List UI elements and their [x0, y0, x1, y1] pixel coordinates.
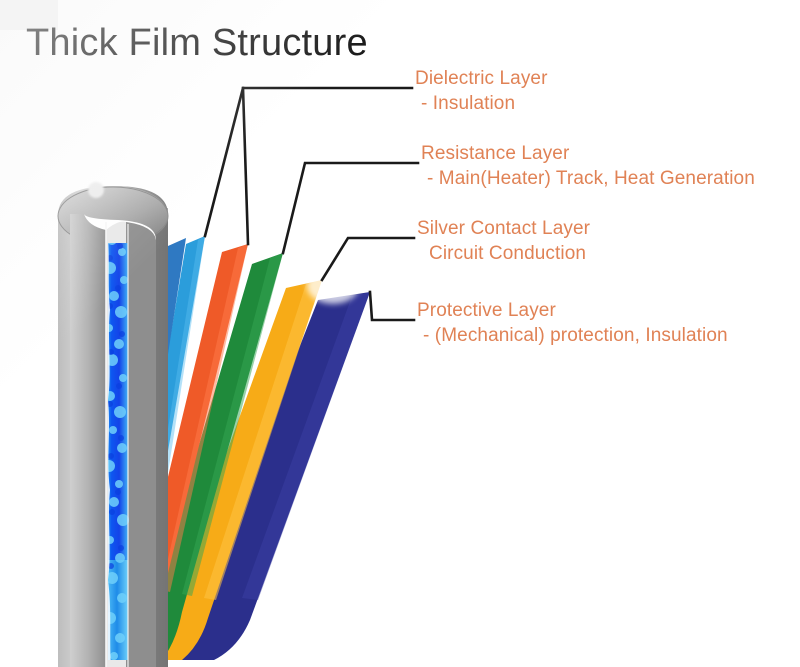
leader-dielectric-branch — [243, 88, 248, 244]
callout-silver-subtitle: Circuit Conduction — [417, 241, 590, 266]
callout-resistance-subtitle: - Main(Heater) Track, Heat Generation — [421, 166, 755, 191]
callout-protective: Protective Layer - (Mechanical) protecti… — [417, 298, 728, 348]
tip-glow — [307, 268, 359, 304]
tube-specular-highlight — [88, 182, 104, 198]
leader-protective — [370, 292, 414, 320]
callout-protective-title: Protective Layer — [417, 298, 728, 323]
diagram-canvas: Thick Film Structure Dielectric Layer - … — [0, 0, 800, 667]
page-title: Thick Film Structure — [26, 20, 368, 66]
bore-gap-right — [127, 224, 129, 667]
bore-gap-left — [105, 222, 107, 667]
callout-silver: Silver Contact Layer Circuit Conduction — [417, 216, 590, 266]
callout-dielectric: Dielectric Layer - Insulation — [415, 66, 548, 116]
callout-protective-subtitle: - (Mechanical) protection, Insulation — [417, 323, 728, 348]
tube-inner-left-wall — [70, 214, 106, 667]
callout-dielectric-subtitle: - Insulation — [415, 91, 548, 116]
callout-resistance-title: Resistance Layer — [421, 141, 755, 166]
callout-dielectric-title: Dielectric Layer — [415, 66, 548, 91]
callout-resistance: Resistance Layer - Main(Heater) Track, H… — [421, 141, 755, 191]
callout-silver-title: Silver Contact Layer — [417, 216, 590, 241]
tube-cutaway — [58, 182, 168, 667]
leader-resistance — [283, 163, 418, 253]
tube-inner-right-wall — [126, 222, 156, 667]
